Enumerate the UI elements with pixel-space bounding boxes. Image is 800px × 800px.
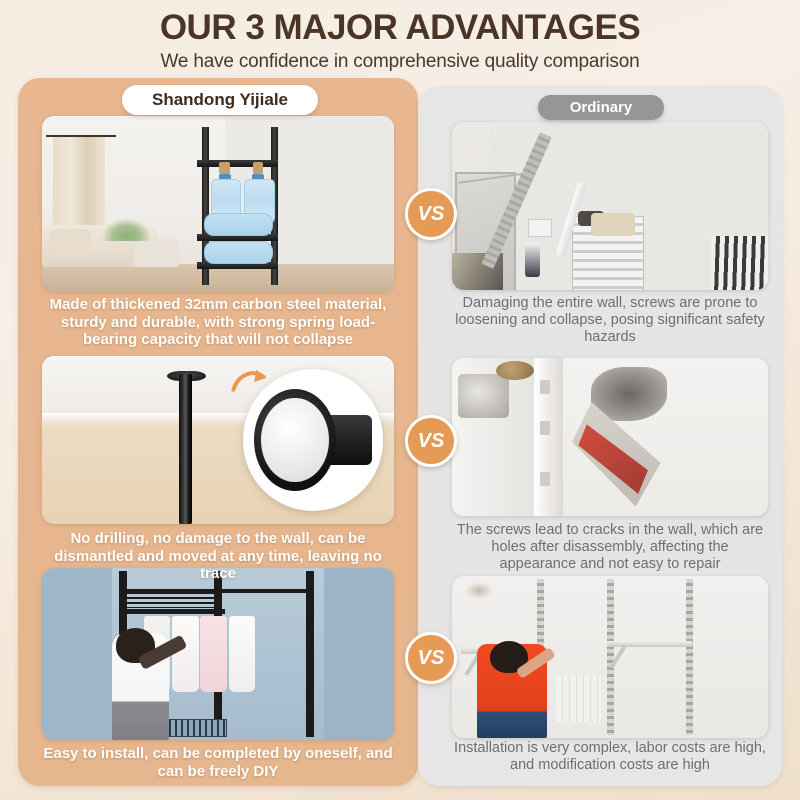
left-caption-2: No drilling, no damage to the wall, can … — [42, 530, 394, 583]
page-title: OUR 3 MAJOR ADVANTAGES — [0, 8, 800, 48]
vs-badge-1: VS — [405, 188, 457, 240]
right-caption-3: Installation is very complex, labor cost… — [452, 740, 768, 774]
left-image-2 — [42, 356, 394, 524]
left-image-1 — [42, 116, 394, 292]
right-image-3 — [452, 576, 768, 738]
page-subtitle: We have confidence in comprehensive qual… — [0, 51, 800, 73]
living-room-water-jug-rack-photo — [42, 116, 394, 292]
header: OUR 3 MAJOR ADVANTAGES We have confidenc… — [0, 0, 800, 73]
brand-label-ordinary: Ordinary — [538, 95, 664, 120]
left-caption-1: Made of thickened 32mm carbon steel mate… — [42, 296, 394, 349]
comparison-infographic: OUR 3 MAJOR ADVANTAGES We have confidenc… — [0, 0, 800, 800]
ceiling-tension-pole-cap-detail-photo — [42, 356, 394, 524]
right-caption-2: The screws lead to cracks in the wall, w… — [452, 522, 768, 573]
vs-badge-3: VS — [405, 632, 457, 684]
person-hanging-clothes-on-rack-photo — [42, 568, 394, 740]
vs-badge-2: VS — [405, 415, 457, 467]
collapsed-wall-shelf-rails-photo — [452, 122, 768, 290]
right-image-2 — [452, 358, 768, 516]
cracked-wall-plaster-damage-photo — [452, 358, 768, 516]
left-image-3 — [42, 568, 394, 740]
worker-installing-wall-shelving-photo — [452, 576, 768, 738]
left-caption-3: Easy to install, can be completed by one… — [42, 745, 394, 780]
brand-label-yijiale: Shandong Yijiale — [122, 85, 318, 115]
right-caption-1: Damaging the entire wall, screws are pro… — [452, 295, 768, 346]
right-image-1 — [452, 122, 768, 290]
